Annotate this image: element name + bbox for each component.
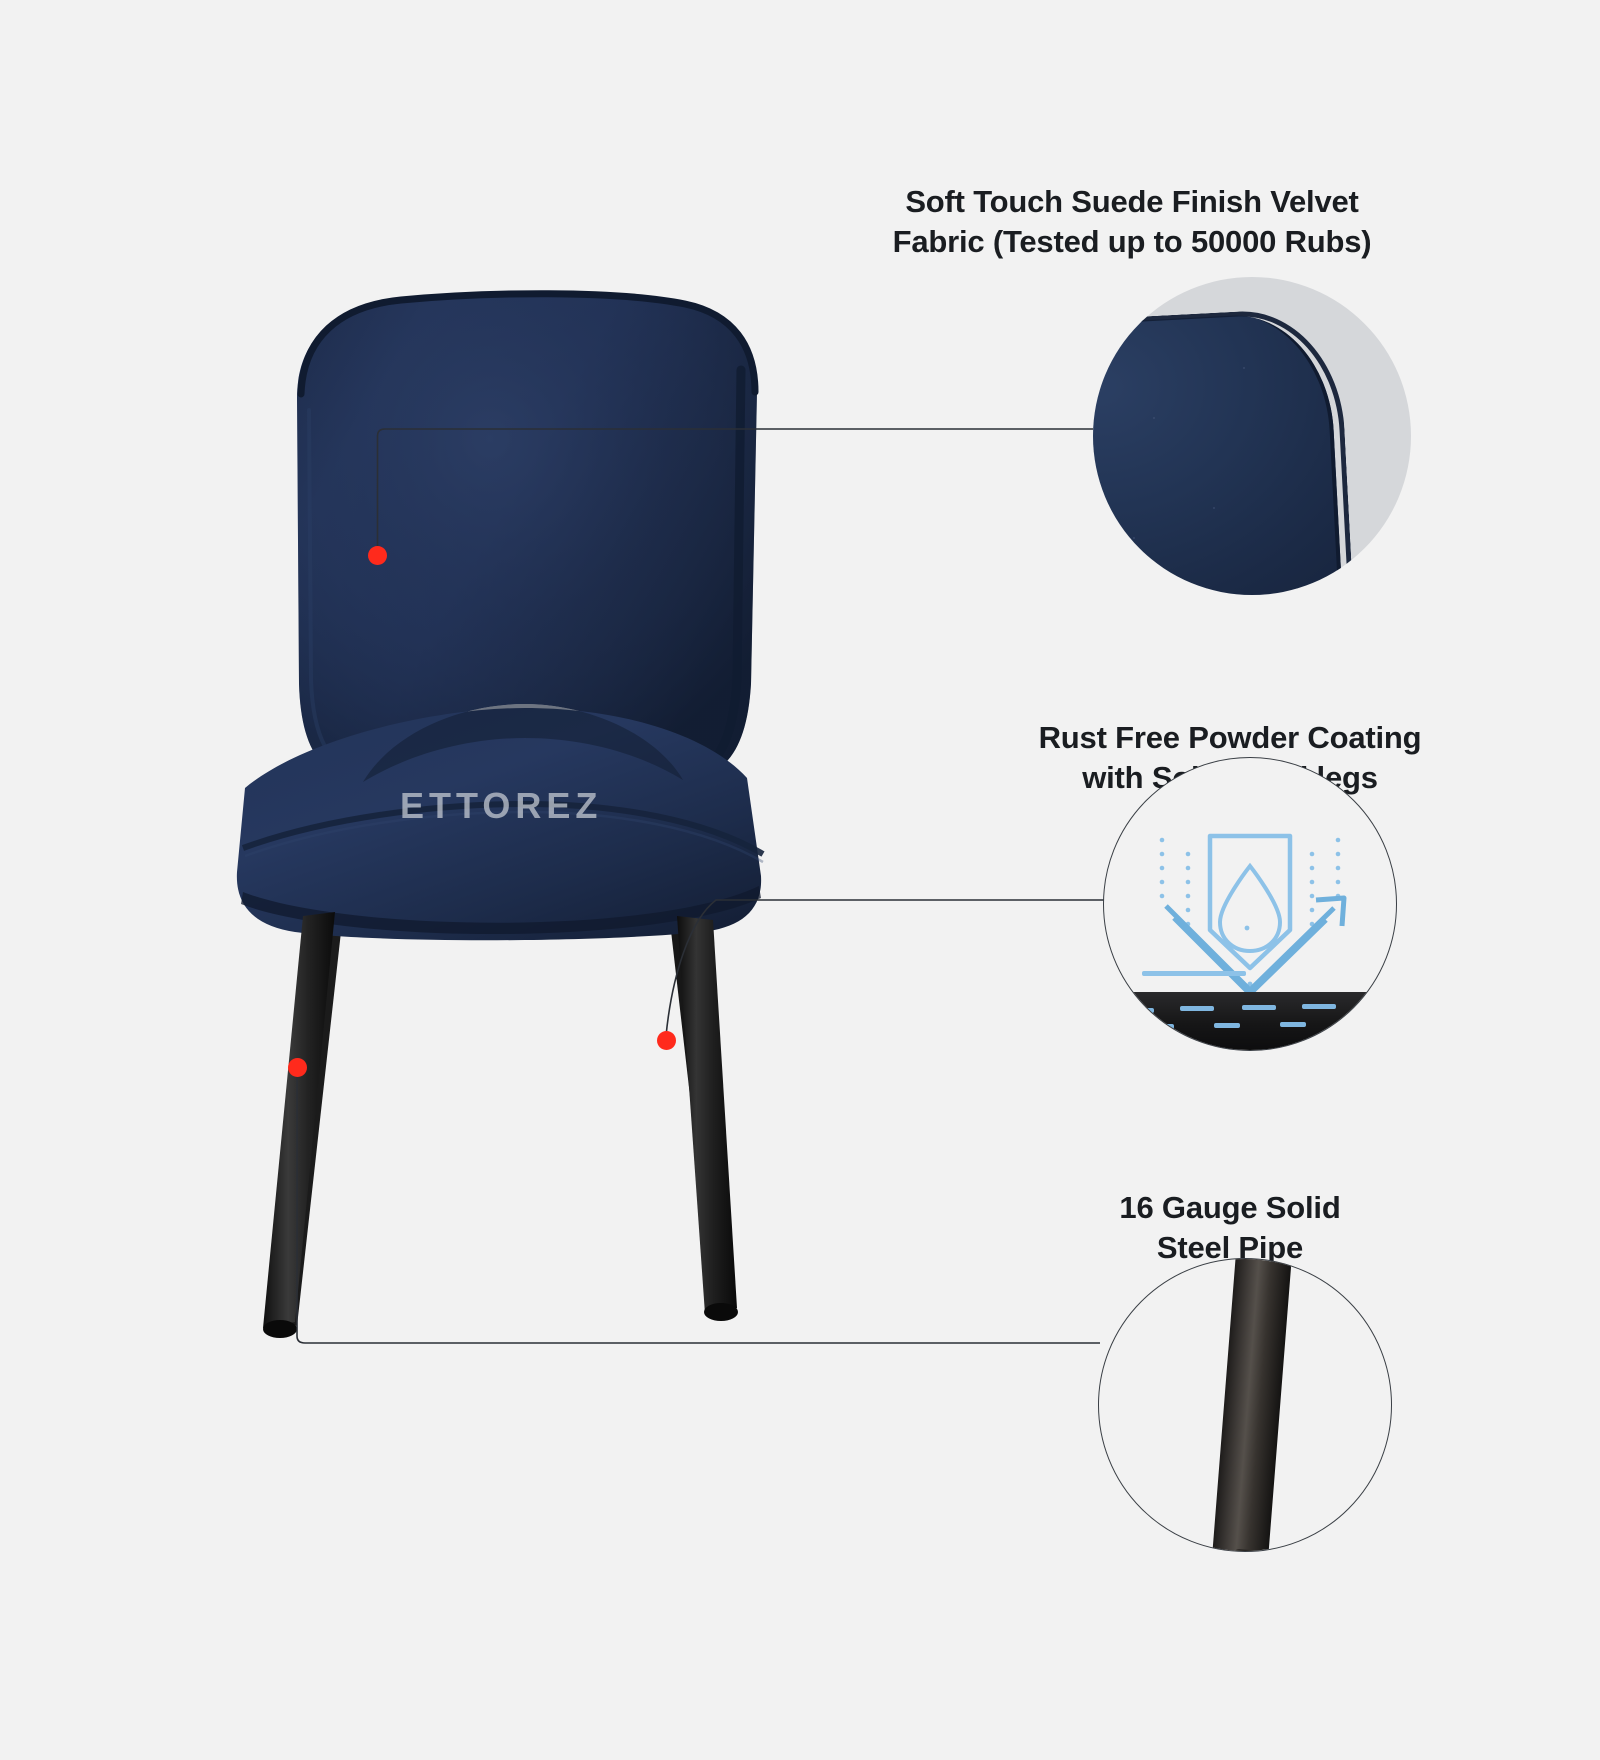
chair-back-legs xyxy=(281,892,731,1326)
infographic-canvas: ETTOREZ Soft Touch Suede Finish Velvet F… xyxy=(0,0,1600,1760)
front-right-leg xyxy=(677,916,737,1314)
fabric-marker-dot xyxy=(368,546,387,565)
callout-title-pipe: 16 Gauge Solid Steel Pipe xyxy=(1050,1188,1410,1267)
right-leg-marker-dot xyxy=(657,1031,676,1050)
coated-surface-band xyxy=(1103,992,1397,1050)
steel-pipe-leg-closeup xyxy=(1210,1258,1293,1552)
detail-circle-pipe xyxy=(1098,1258,1392,1552)
chair-product-image: ETTOREZ xyxy=(185,280,825,1340)
front-left-leg xyxy=(263,912,335,1328)
left-leg-marker-dot xyxy=(288,1058,307,1077)
detail-circle-coating xyxy=(1103,757,1397,1051)
surface-line-1 xyxy=(1142,971,1246,976)
detail-circle-fabric xyxy=(1093,277,1411,595)
callout-title-fabric: Soft Touch Suede Finish Velvet Fabric (T… xyxy=(862,182,1402,261)
brand-watermark: ETTOREZ xyxy=(400,785,602,827)
water-repellent-icon xyxy=(1104,758,1396,1050)
